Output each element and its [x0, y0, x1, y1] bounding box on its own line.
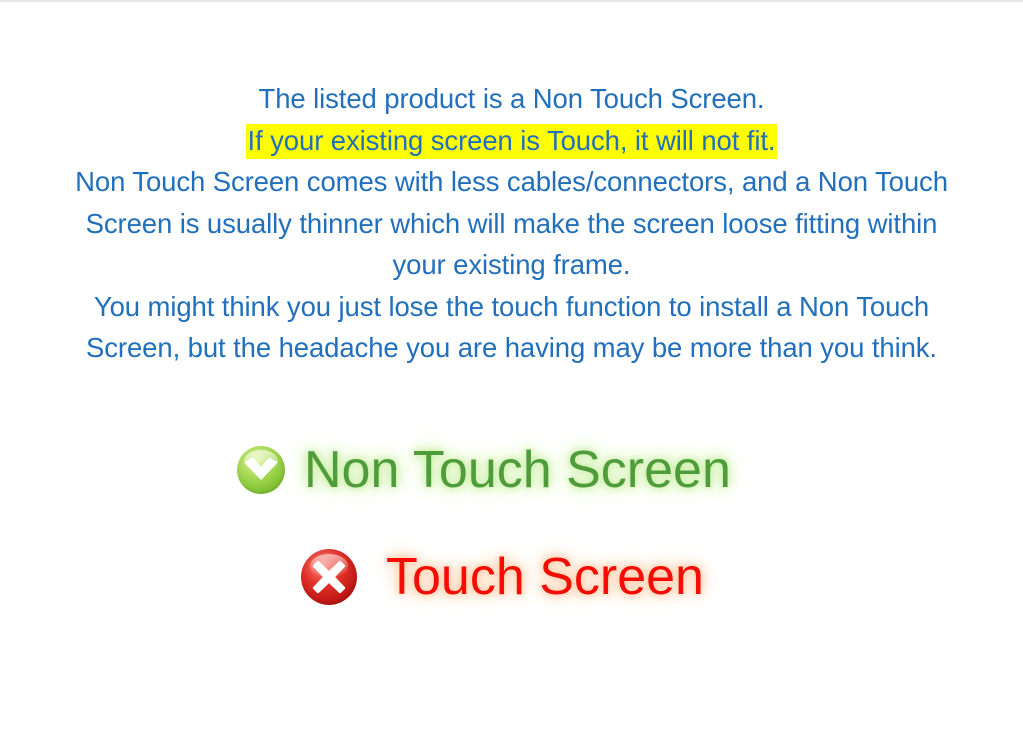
description-line-1: The listed product is a Non Touch Screen…	[62, 78, 962, 120]
verdict-row-non-touch: Non Touch Screen	[0, 437, 1023, 503]
verdict-label-non-touch: Non Touch Screen	[304, 444, 731, 496]
highlighted-warning-text: If your existing screen is Touch, it wil…	[246, 124, 778, 159]
description-line-4: You might think you just lose the touch …	[62, 286, 962, 369]
verdict-row-touch: Touch Screen	[0, 544, 1023, 610]
verdict-list: Non Touch Screen	[0, 437, 1023, 610]
description-block: The listed product is a Non Touch Screen…	[62, 78, 962, 369]
green-check-circle-icon	[236, 445, 286, 495]
description-line-2-highlighted: If your existing screen is Touch, it wil…	[62, 120, 962, 162]
compatibility-notice-panel: The listed product is a Non Touch Screen…	[0, 0, 1023, 729]
red-x-circle-icon	[300, 548, 358, 606]
verdict-label-touch: Touch Screen	[386, 551, 704, 603]
description-line-3: Non Touch Screen comes with less cables/…	[62, 161, 962, 286]
